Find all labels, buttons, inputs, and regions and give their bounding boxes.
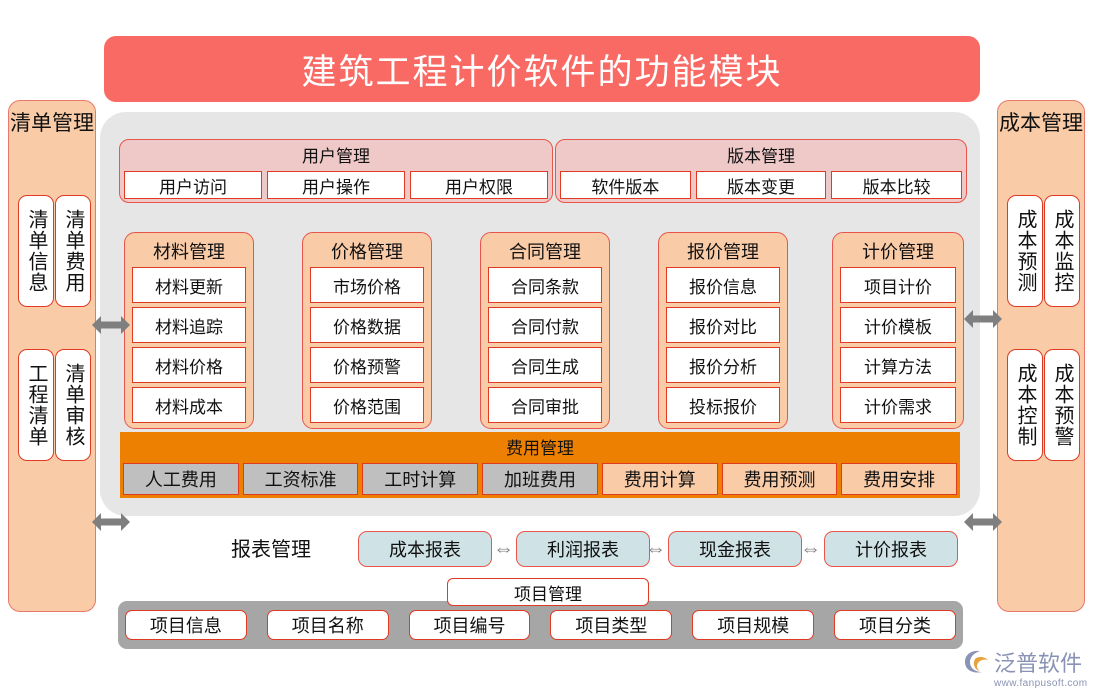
company-logo: 泛普软件 www.fanpusoft.com bbox=[962, 646, 1094, 692]
report-item-1[interactable]: 成本报表 bbox=[358, 531, 492, 567]
panel-version-management-cells: 软件版本 版本变更 版本比较 bbox=[560, 171, 962, 199]
panel-project-management: 项目信息 项目名称 项目编号 项目类型 项目规模 项目分类 bbox=[118, 601, 963, 649]
report-item-3[interactable]: 现金报表 bbox=[668, 531, 802, 567]
report-management-label: 报表管理 bbox=[196, 533, 346, 562]
diagram-canvas: 建筑工程计价软件的功能模块 清单管理 清单信息 清单费用 工程清单 清单审核 成… bbox=[0, 0, 1100, 700]
fee-item-4[interactable]: 加班费用 bbox=[482, 463, 598, 495]
project-management-title: 项目管理 bbox=[447, 578, 649, 606]
panel-fee-management: 费用管理 人工费用 工资标准 工时计算 加班费用 费用计算 费用预测 费用安排 bbox=[120, 432, 960, 498]
panel-user-management-cells: 用户访问 用户操作 用户权限 bbox=[124, 171, 548, 199]
module-valuation-cells: 项目计价 计价模板 计算方法 计价需求 bbox=[840, 267, 956, 423]
material-item-1[interactable]: 材料更新 bbox=[132, 267, 246, 303]
valuation-item-3[interactable]: 计算方法 bbox=[840, 347, 956, 383]
user-management-item-2[interactable]: 用户操作 bbox=[267, 171, 405, 199]
valuation-item-2[interactable]: 计价模板 bbox=[840, 307, 956, 343]
left-panel-title: 清单管理 bbox=[9, 111, 95, 136]
quotation-item-4[interactable]: 投标报价 bbox=[666, 387, 780, 423]
left-panel-item-1[interactable]: 清单信息 bbox=[18, 195, 54, 307]
panel-fee-management-cells: 人工费用 工资标准 工时计算 加班费用 费用计算 费用预测 费用安排 bbox=[123, 463, 957, 495]
double-arrow-icon-3: ⇔ bbox=[800, 538, 821, 559]
project-cells: 项目信息 项目名称 项目编号 项目类型 项目规模 项目分类 bbox=[125, 610, 956, 640]
module-price-management: 价格管理 市场价格 价格数据 价格预警 价格范围 bbox=[302, 232, 432, 429]
quotation-item-3[interactable]: 报价分析 bbox=[666, 347, 780, 383]
valuation-item-1[interactable]: 项目计价 bbox=[840, 267, 956, 303]
project-item-5[interactable]: 项目规模 bbox=[692, 610, 814, 640]
price-item-3[interactable]: 价格预警 bbox=[310, 347, 424, 383]
connector-arrow-icon-left-top bbox=[92, 314, 130, 336]
version-management-item-3[interactable]: 版本比较 bbox=[831, 171, 962, 199]
panel-version-management-title: 版本管理 bbox=[556, 142, 966, 167]
module-material-management: 材料管理 材料更新 材料追踪 材料价格 材料成本 bbox=[124, 232, 254, 429]
material-item-2[interactable]: 材料追踪 bbox=[132, 307, 246, 343]
quotation-item-1[interactable]: 报价信息 bbox=[666, 267, 780, 303]
fee-item-6[interactable]: 费用预测 bbox=[722, 463, 838, 495]
project-item-2[interactable]: 项目名称 bbox=[267, 610, 389, 640]
panel-version-management: 版本管理 软件版本 版本变更 版本比较 bbox=[555, 139, 967, 203]
module-contract-cells: 合同条款 合同付款 合同生成 合同审批 bbox=[488, 267, 602, 423]
fee-item-5[interactable]: 费用计算 bbox=[602, 463, 718, 495]
contract-item-4[interactable]: 合同审批 bbox=[488, 387, 602, 423]
price-item-1[interactable]: 市场价格 bbox=[310, 267, 424, 303]
logo-row: 泛普软件 bbox=[962, 646, 1082, 678]
logo-url: www.fanpusoft.com bbox=[994, 678, 1088, 689]
project-item-1[interactable]: 项目信息 bbox=[125, 610, 247, 640]
version-management-item-2[interactable]: 版本变更 bbox=[696, 171, 827, 199]
module-quotation-management: 报价管理 报价信息 报价对比 报价分析 投标报价 bbox=[658, 232, 788, 429]
left-panel-item-4[interactable]: 清单审核 bbox=[55, 349, 91, 461]
right-panel-title: 成本管理 bbox=[998, 111, 1084, 136]
connector-arrow-icon-right-bottom bbox=[964, 511, 1002, 533]
double-arrow-icon-2: ⇔ bbox=[645, 538, 666, 559]
left-panel-list-management: 清单管理 清单信息 清单费用 工程清单 清单审核 bbox=[8, 100, 96, 612]
quotation-item-2[interactable]: 报价对比 bbox=[666, 307, 780, 343]
module-price-cells: 市场价格 价格数据 价格预警 价格范围 bbox=[310, 267, 424, 423]
module-contract-management: 合同管理 合同条款 合同付款 合同生成 合同审批 bbox=[480, 232, 610, 429]
module-material-title: 材料管理 bbox=[125, 238, 253, 264]
module-price-title: 价格管理 bbox=[303, 238, 431, 264]
right-panel-item-2[interactable]: 成本监控 bbox=[1044, 195, 1080, 307]
material-item-3[interactable]: 材料价格 bbox=[132, 347, 246, 383]
project-item-4[interactable]: 项目类型 bbox=[550, 610, 672, 640]
logo-text: 泛普软件 bbox=[994, 646, 1082, 678]
panel-fee-management-title: 费用管理 bbox=[120, 434, 960, 459]
price-item-4[interactable]: 价格范围 bbox=[310, 387, 424, 423]
valuation-item-4[interactable]: 计价需求 bbox=[840, 387, 956, 423]
module-contract-title: 合同管理 bbox=[481, 238, 609, 264]
module-valuation-title: 计价管理 bbox=[833, 238, 963, 264]
project-item-6[interactable]: 项目分类 bbox=[834, 610, 956, 640]
right-panel-item-1[interactable]: 成本预测 bbox=[1007, 195, 1043, 307]
report-item-2[interactable]: 利润报表 bbox=[516, 531, 650, 567]
right-panel-item-4[interactable]: 成本预警 bbox=[1044, 349, 1080, 461]
fee-item-2[interactable]: 工资标准 bbox=[243, 463, 359, 495]
page-title: 建筑工程计价软件的功能模块 bbox=[301, 44, 782, 95]
module-material-cells: 材料更新 材料追踪 材料价格 材料成本 bbox=[132, 267, 246, 423]
fee-item-3[interactable]: 工时计算 bbox=[362, 463, 478, 495]
module-quotation-cells: 报价信息 报价对比 报价分析 投标报价 bbox=[666, 267, 780, 423]
fee-item-1[interactable]: 人工费用 bbox=[123, 463, 239, 495]
contract-item-3[interactable]: 合同生成 bbox=[488, 347, 602, 383]
project-item-3[interactable]: 项目编号 bbox=[409, 610, 531, 640]
fee-item-7[interactable]: 费用安排 bbox=[841, 463, 957, 495]
left-panel-item-2[interactable]: 清单费用 bbox=[55, 195, 91, 307]
right-panel-item-3[interactable]: 成本控制 bbox=[1007, 349, 1043, 461]
module-quotation-title: 报价管理 bbox=[659, 238, 787, 264]
connector-arrow-icon-right-top bbox=[964, 308, 1002, 330]
panel-user-management: 用户管理 用户访问 用户操作 用户权限 bbox=[119, 139, 553, 203]
panel-user-management-title: 用户管理 bbox=[120, 142, 552, 167]
price-item-2[interactable]: 价格数据 bbox=[310, 307, 424, 343]
diagram-title-banner: 建筑工程计价软件的功能模块 bbox=[104, 36, 980, 102]
version-management-item-1[interactable]: 软件版本 bbox=[560, 171, 691, 199]
connector-arrow-icon-left-bottom bbox=[92, 511, 130, 533]
contract-item-1[interactable]: 合同条款 bbox=[488, 267, 602, 303]
material-item-4[interactable]: 材料成本 bbox=[132, 387, 246, 423]
user-management-item-1[interactable]: 用户访问 bbox=[124, 171, 262, 199]
double-arrow-icon-1: ⇔ bbox=[493, 538, 514, 559]
user-management-item-3[interactable]: 用户权限 bbox=[410, 171, 548, 199]
fanpu-logo-icon bbox=[962, 649, 990, 675]
right-panel-cost-management: 成本管理 成本预测 成本监控 成本控制 成本预警 bbox=[997, 100, 1085, 612]
contract-item-2[interactable]: 合同付款 bbox=[488, 307, 602, 343]
module-valuation-management: 计价管理 项目计价 计价模板 计算方法 计价需求 bbox=[832, 232, 964, 429]
report-item-4[interactable]: 计价报表 bbox=[824, 531, 958, 567]
left-panel-item-3[interactable]: 工程清单 bbox=[18, 349, 54, 461]
